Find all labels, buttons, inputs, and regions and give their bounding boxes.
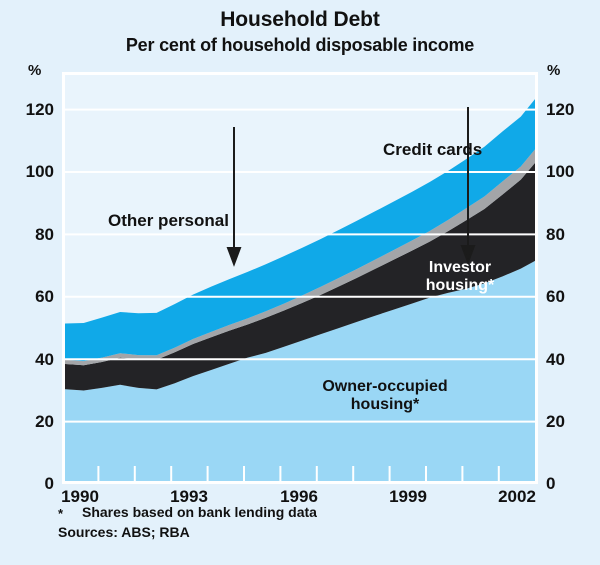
band-label-owner-occupied-housing: Owner-occupied housing* bbox=[300, 378, 470, 415]
y-axis-label-left-0: 0 bbox=[45, 474, 54, 494]
y-axis-unit-right: % bbox=[547, 62, 560, 79]
y-axis-label-right-40: 40 bbox=[546, 350, 565, 370]
y-axis-label-left-60: 60 bbox=[35, 287, 54, 307]
y-axis-label-left-40: 40 bbox=[35, 350, 54, 370]
y-axis-label-right-120: 120 bbox=[546, 100, 574, 120]
footnote-text: Shares based on bank lending data bbox=[82, 504, 317, 520]
y-axis-unit-left: % bbox=[28, 62, 41, 79]
y-axis-label-left-100: 100 bbox=[26, 162, 54, 182]
footnote-star-marker: * bbox=[58, 506, 63, 521]
x-axis-label-1999: 1999 bbox=[389, 487, 427, 507]
sources-text: Sources: ABS; RBA bbox=[58, 524, 190, 540]
y-axis-label-left-80: 80 bbox=[35, 225, 54, 245]
y-axis-label-right-100: 100 bbox=[546, 162, 574, 182]
y-axis-label-right-80: 80 bbox=[546, 225, 565, 245]
y-axis-label-left-120: 120 bbox=[26, 100, 54, 120]
y-axis-label-right-60: 60 bbox=[546, 287, 565, 307]
y-axis-label-left-20: 20 bbox=[35, 412, 54, 432]
annotation-other-personal: Other personal bbox=[108, 211, 229, 231]
y-axis-label-right-20: 20 bbox=[546, 412, 565, 432]
x-axis-label-2002: 2002 bbox=[498, 487, 536, 507]
chart-subtitle: Per cent of household disposable income bbox=[0, 35, 600, 56]
page-title: Household Debt bbox=[0, 8, 600, 32]
band-label-investor-housing-line1: Investor bbox=[429, 259, 491, 276]
band-label-investor-housing-line2: housing* bbox=[426, 277, 494, 294]
band-label-owner-occupied-line2: housing* bbox=[351, 396, 419, 413]
band-label-owner-occupied-line1: Owner-occupied bbox=[322, 378, 447, 395]
annotation-credit-cards: Credit cards bbox=[383, 140, 482, 160]
y-axis-label-right-0: 0 bbox=[546, 474, 555, 494]
band-label-investor-housing: Investor housing* bbox=[410, 259, 510, 296]
chart-container: Household Debt Per cent of household dis… bbox=[0, 0, 600, 565]
